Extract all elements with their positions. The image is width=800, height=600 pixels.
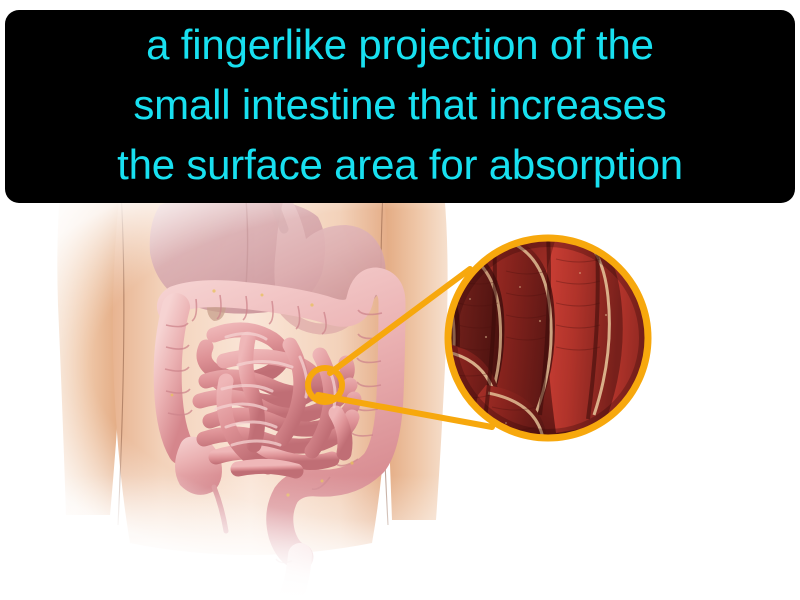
definition-card: a fingerlike projection of the small int… xyxy=(0,0,800,600)
digestive-system-illustration xyxy=(0,195,800,600)
definition-line-3: the surface area for absorption xyxy=(117,135,683,195)
definition-line-1: a fingerlike projection of the xyxy=(146,15,654,75)
definition-line-2: small intestine that increases xyxy=(133,75,666,135)
definition-banner: a fingerlike projection of the small int… xyxy=(5,10,795,203)
rectum xyxy=(274,555,300,600)
